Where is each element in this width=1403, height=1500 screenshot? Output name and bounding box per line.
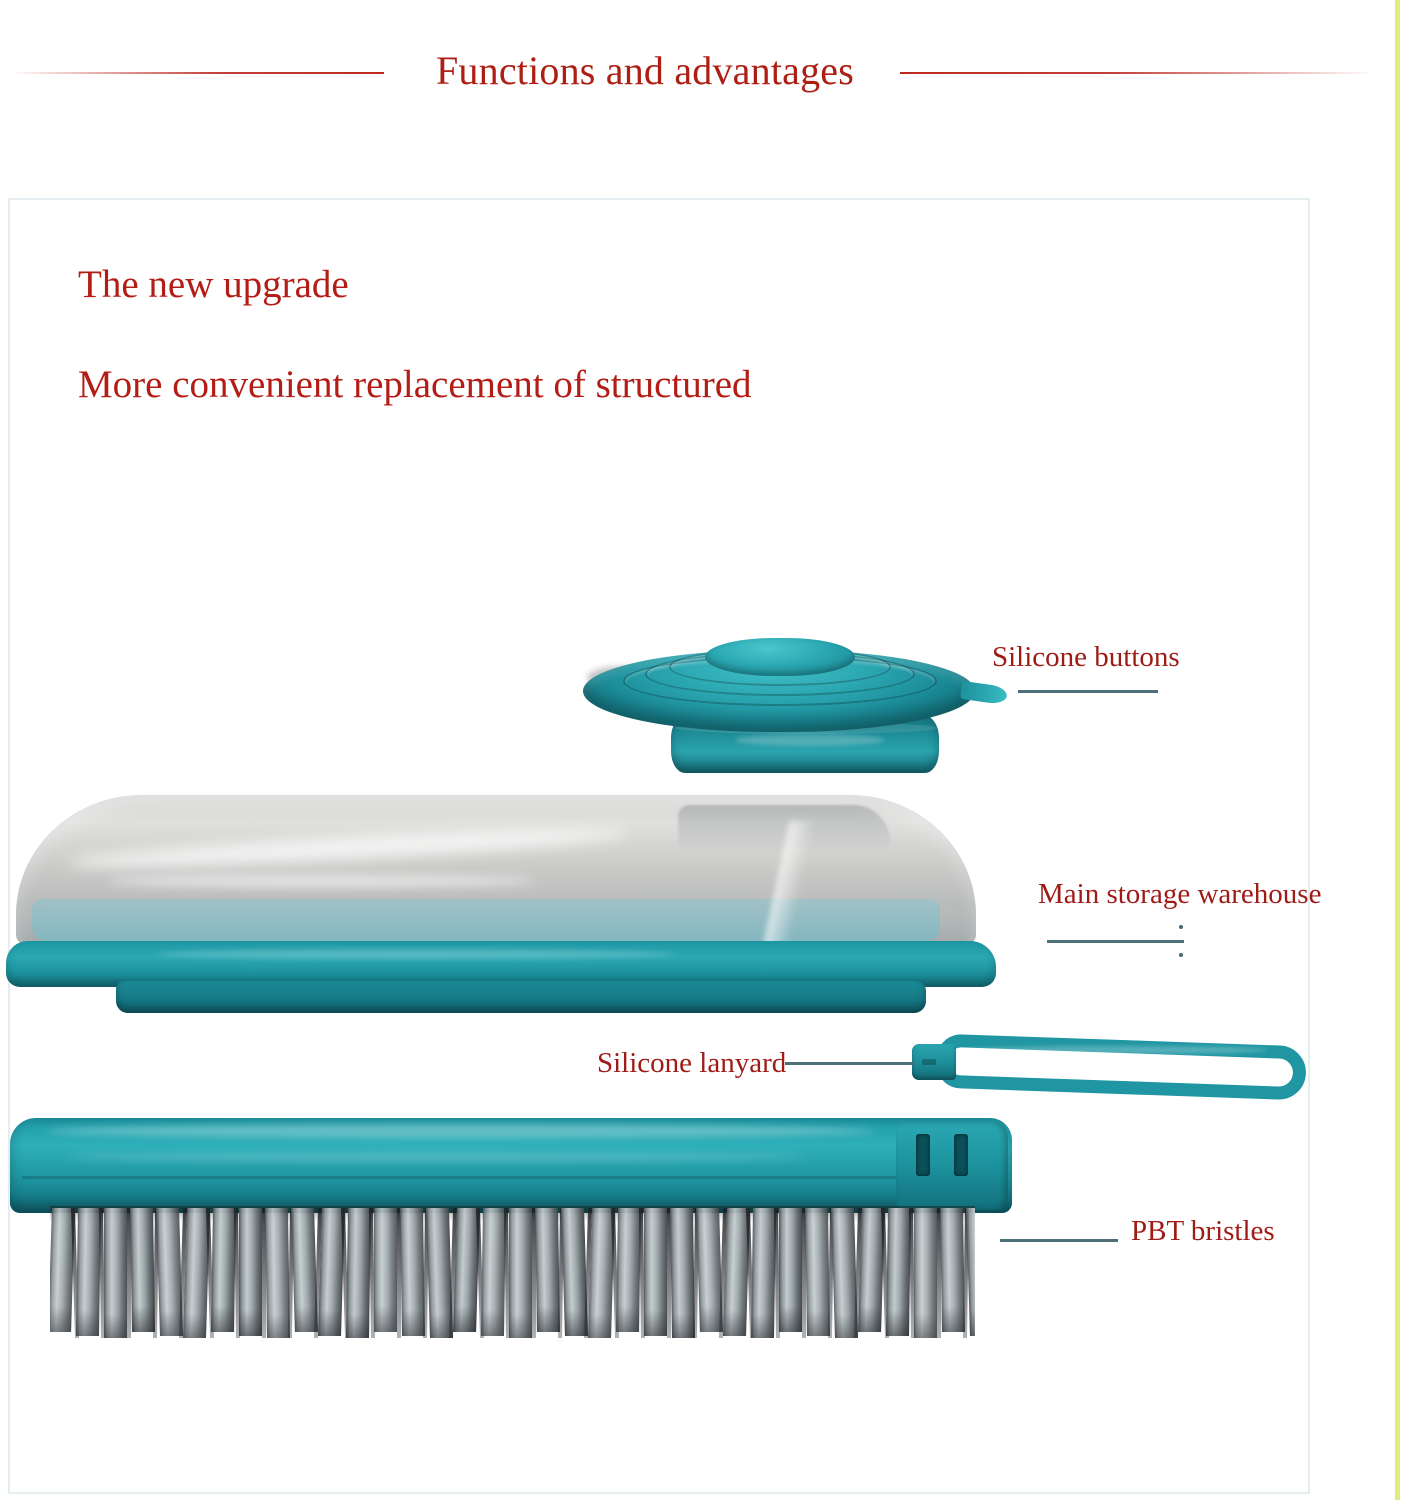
storage-dome-highlight-lower [106, 875, 536, 887]
storage-base-foot [116, 981, 926, 1013]
bristle-tuft [805, 1208, 830, 1336]
bristle-tuft [265, 1208, 290, 1338]
callout-label-pbt-bristles: PBT bristles [1131, 1215, 1275, 1248]
brush-slot-left [916, 1134, 930, 1176]
brush-mid-highlight [66, 1152, 806, 1162]
lanyard-loop [935, 1034, 1307, 1101]
bristle-tuft [211, 1208, 236, 1332]
bristle-tuft [886, 1208, 911, 1336]
product-infographic-page: Functions and advantages The new upgrade… [0, 0, 1403, 1500]
storage-liquid-level [32, 899, 940, 941]
header: Functions and advantages [0, 40, 1403, 110]
leader-dot-lower [1179, 953, 1183, 957]
button-lower-sheen [735, 734, 885, 746]
bristle-tuft [374, 1208, 397, 1332]
bristle-tuft [779, 1208, 802, 1332]
bristle-tuft [239, 1208, 262, 1336]
lanyard-highlight [968, 1046, 1268, 1054]
bristle-tuft [966, 1208, 975, 1336]
leader-line-main-storage [1047, 940, 1184, 943]
brush-slot-right [954, 1134, 968, 1176]
bristle-tuft [104, 1208, 127, 1338]
bristle-tuft [346, 1208, 371, 1338]
bristle-tuft [400, 1208, 425, 1336]
callout-label-main-storage: Main storage warehouse [1038, 878, 1321, 911]
edge-accent-line [1395, 0, 1400, 1500]
brush-top-highlight [46, 1124, 876, 1138]
lanyard-clip-notch [922, 1059, 936, 1065]
bristle-tuft [509, 1208, 532, 1338]
callout-label-silicone-lanyard: Silicone lanyard [597, 1047, 786, 1080]
bristle-tuft [76, 1208, 101, 1336]
bristle-tuft [670, 1208, 695, 1338]
storage-base-sheen [156, 949, 676, 959]
brush-seam-line [22, 1176, 972, 1179]
bristle-tuft [616, 1208, 641, 1332]
leader-dot-upper [1179, 925, 1183, 929]
bristle-tuft [130, 1208, 155, 1332]
leader-line-pbt-bristles [1000, 1239, 1118, 1242]
bristle-tuft [940, 1208, 965, 1332]
silicone-lanyard-part-image [908, 1036, 1308, 1100]
bristle-tuft [914, 1208, 937, 1338]
header-rule-left [14, 72, 384, 74]
bristle-tuft [481, 1208, 506, 1336]
leader-line-silicone-buttons [1018, 690, 1158, 693]
bristle-tuft [644, 1208, 667, 1336]
main-storage-part-image [6, 795, 1026, 1020]
button-center-cap [705, 638, 855, 676]
callout-label-silicone-buttons: Silicone buttons [992, 641, 1180, 674]
brush-end-cap [896, 1122, 1008, 1210]
silicone-button-part-image [575, 630, 1020, 775]
pbt-bristle-field [50, 1208, 975, 1338]
leader-line-silicone-lanyard [785, 1062, 913, 1065]
heading-convenient-replacement: More convenient replacement of structure… [78, 362, 752, 407]
lanyard-clip [912, 1044, 956, 1080]
header-rule-right [900, 72, 1370, 74]
page-title: Functions and advantages [390, 40, 900, 102]
heading-new-upgrade: The new upgrade [78, 262, 349, 307]
brush-part-image [6, 1118, 1026, 1358]
bristle-tuft [535, 1208, 560, 1332]
bristle-tuft [751, 1208, 776, 1338]
